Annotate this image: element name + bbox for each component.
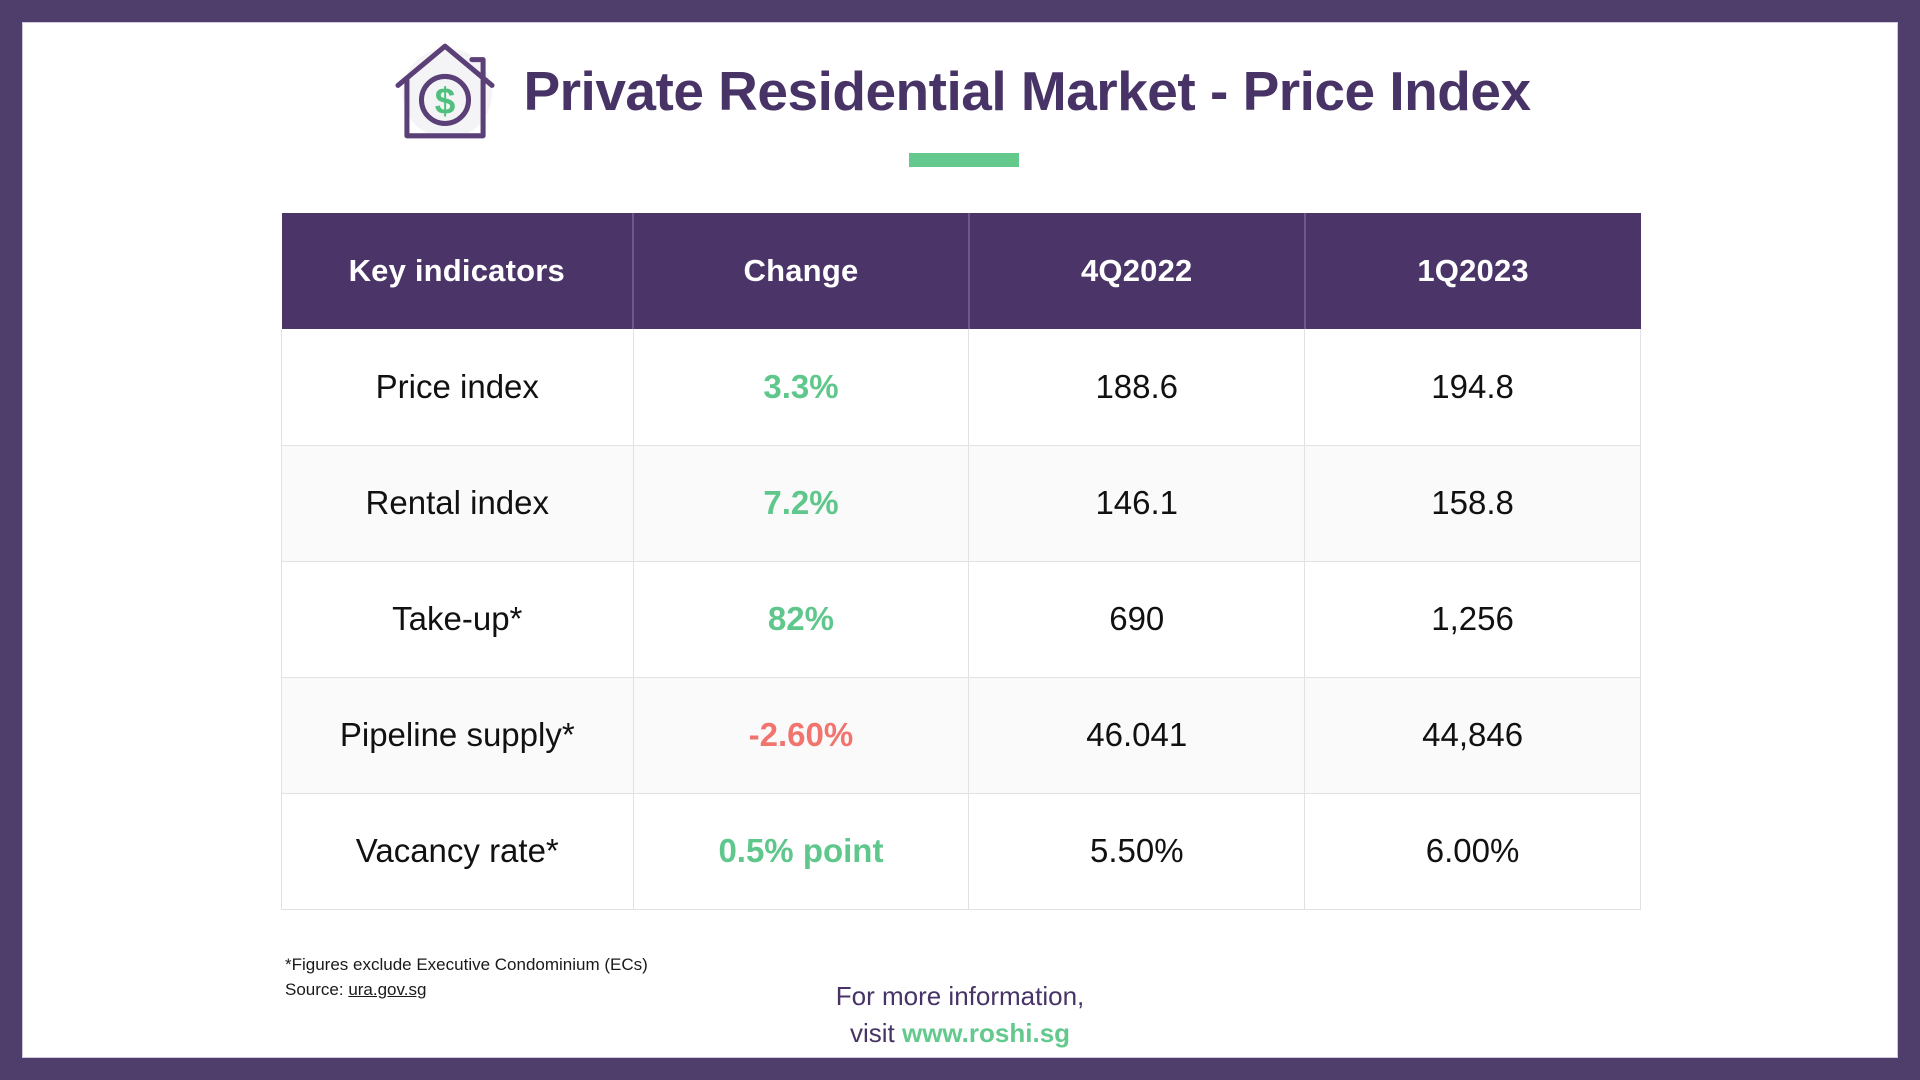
cell-1q2023: 6.00% — [1305, 793, 1641, 909]
svg-text:$: $ — [435, 80, 456, 121]
footnote-exclusion: *Figures exclude Executive Condominium (… — [285, 953, 648, 978]
cell-change: -2.60% — [633, 677, 969, 793]
cta-visit-label: visit — [850, 1018, 902, 1048]
cell-4q2022: 188.6 — [969, 329, 1305, 445]
cell-indicator: Pipeline supply* — [282, 677, 634, 793]
table-row: Vacancy rate* 0.5% point 5.50% 6.00% — [282, 793, 1641, 909]
indicators-table-wrapper: Key indicators Change 4Q2022 1Q2023 Pric… — [281, 213, 1641, 910]
table-row: Take-up* 82% 690 1,256 — [282, 561, 1641, 677]
cell-1q2023: 194.8 — [1305, 329, 1641, 445]
cta-block: For more information, visit www.roshi.sg — [23, 978, 1897, 1052]
page-frame: $ Private Residential Market - Price Ind… — [0, 0, 1920, 1080]
cell-change: 3.3% — [633, 329, 969, 445]
column-header-1q2023: 1Q2023 — [1305, 213, 1641, 329]
cell-4q2022: 46.041 — [969, 677, 1305, 793]
table-row: Price index 3.3% 188.6 194.8 — [282, 329, 1641, 445]
cell-indicator: Rental index — [282, 445, 634, 561]
cta-line-2: visit www.roshi.sg — [23, 1015, 1897, 1052]
cta-brand-link[interactable]: www.roshi.sg — [902, 1018, 1070, 1048]
cell-change: 82% — [633, 561, 969, 677]
cell-indicator: Vacancy rate* — [282, 793, 634, 909]
page-canvas: $ Private Residential Market - Price Ind… — [22, 22, 1898, 1058]
table-header-row: Key indicators Change 4Q2022 1Q2023 — [282, 213, 1641, 329]
column-header-key-indicators: Key indicators — [282, 213, 634, 329]
column-header-4q2022: 4Q2022 — [969, 213, 1305, 329]
page-title: Private Residential Market - Price Index — [523, 59, 1530, 123]
table-row: Rental index 7.2% 146.1 158.8 — [282, 445, 1641, 561]
column-header-change: Change — [633, 213, 969, 329]
cell-1q2023: 158.8 — [1305, 445, 1641, 561]
cell-1q2023: 1,256 — [1305, 561, 1641, 677]
cell-4q2022: 146.1 — [969, 445, 1305, 561]
house-with-dollar-icon: $ — [389, 35, 501, 147]
cell-indicator: Take-up* — [282, 561, 634, 677]
table-row: Pipeline supply* -2.60% 46.041 44,846 — [282, 677, 1641, 793]
indicators-table: Key indicators Change 4Q2022 1Q2023 Pric… — [281, 213, 1641, 910]
cell-1q2023: 44,846 — [1305, 677, 1641, 793]
title-accent-bar — [909, 153, 1019, 167]
cell-change: 7.2% — [633, 445, 969, 561]
table-header: Key indicators Change 4Q2022 1Q2023 — [282, 213, 1641, 329]
cell-change: 0.5% point — [633, 793, 969, 909]
cell-4q2022: 690 — [969, 561, 1305, 677]
cta-line-1: For more information, — [23, 978, 1897, 1015]
cell-indicator: Price index — [282, 329, 634, 445]
table-body: Price index 3.3% 188.6 194.8 Rental inde… — [282, 329, 1641, 909]
page-header: $ Private Residential Market - Price Ind… — [23, 35, 1897, 147]
cell-4q2022: 5.50% — [969, 793, 1305, 909]
